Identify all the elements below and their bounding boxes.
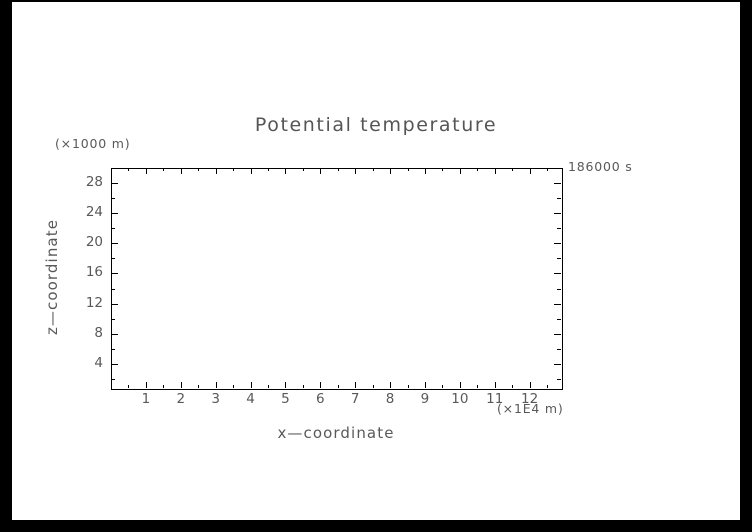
- y-tick-label: 16: [69, 264, 103, 280]
- tick-mark: [111, 273, 118, 274]
- tick-mark: [408, 385, 409, 388]
- tick-mark: [477, 385, 478, 388]
- tick-mark: [146, 382, 147, 388]
- tick-mark: [111, 168, 115, 169]
- x-tick-label: 6: [305, 391, 335, 407]
- tick-mark: [557, 319, 561, 320]
- y-tick-label: 12: [69, 295, 103, 311]
- figure-root: Potential temperature (×1000 m) 186000 s…: [0, 0, 752, 532]
- tick-mark: [554, 273, 561, 274]
- tick-mark: [530, 168, 531, 174]
- tick-mark: [111, 349, 115, 350]
- tick-mark: [355, 168, 356, 174]
- tick-mark: [557, 379, 561, 380]
- tick-mark: [285, 168, 286, 174]
- tick-mark: [111, 258, 115, 259]
- tick-mark: [146, 168, 147, 174]
- temperature-field: [111, 168, 561, 388]
- y-tick-label: 4: [69, 355, 103, 371]
- tick-mark: [111, 243, 118, 244]
- tick-mark: [554, 304, 561, 305]
- tick-mark: [373, 385, 374, 388]
- y-axis-title: z—coordinate: [43, 197, 61, 357]
- tick-mark: [198, 168, 199, 171]
- tick-mark: [425, 168, 426, 174]
- x-axis-unit-label: (×1E4 m): [497, 401, 564, 416]
- tick-mark: [530, 382, 531, 388]
- tick-mark: [512, 168, 513, 171]
- x-tick-label: 5: [270, 391, 300, 407]
- x-axis-title: x—coordinate: [0, 424, 672, 442]
- page-title: Potential temperature: [0, 114, 752, 136]
- tick-mark: [128, 385, 129, 388]
- tick-mark: [128, 168, 129, 171]
- tick-mark: [111, 183, 118, 184]
- x-tick-label: 4: [236, 391, 266, 407]
- tick-mark: [338, 385, 339, 388]
- tick-mark: [320, 382, 321, 388]
- tick-mark: [303, 168, 304, 171]
- tick-mark: [111, 213, 118, 214]
- x-tick-label: 9: [410, 391, 440, 407]
- tick-mark: [233, 168, 234, 171]
- tick-mark: [268, 168, 269, 171]
- tick-mark: [163, 168, 164, 171]
- colorbar-gradient: [578, 196, 600, 388]
- tick-mark: [557, 198, 561, 199]
- timestamp-label: 186000 s: [568, 159, 633, 174]
- tick-mark: [181, 168, 182, 174]
- tick-mark: [216, 382, 217, 388]
- tick-mark: [181, 382, 182, 388]
- tick-mark: [111, 289, 115, 290]
- y-tick-label: 24: [69, 204, 103, 220]
- tick-mark: [557, 349, 561, 350]
- tick-mark: [390, 382, 391, 388]
- tick-mark: [495, 382, 496, 388]
- tick-mark: [557, 228, 561, 229]
- tick-mark: [547, 168, 548, 171]
- tick-mark: [198, 385, 199, 388]
- tick-mark: [554, 213, 561, 214]
- tick-mark: [557, 258, 561, 259]
- x-tick-label: 1: [131, 391, 161, 407]
- tick-mark: [111, 379, 115, 380]
- tick-mark: [355, 382, 356, 388]
- tick-mark: [557, 289, 561, 290]
- tick-mark: [554, 243, 561, 244]
- x-tick-label: 2: [166, 391, 196, 407]
- tick-mark: [111, 364, 118, 365]
- tick-mark: [460, 168, 461, 174]
- tick-mark: [338, 168, 339, 171]
- y-tick-label: 28: [69, 174, 103, 190]
- tick-mark: [111, 334, 118, 335]
- tick-mark: [557, 168, 561, 169]
- tick-mark: [251, 168, 252, 174]
- tick-mark: [442, 168, 443, 171]
- tick-mark: [460, 382, 461, 388]
- tick-mark: [163, 385, 164, 388]
- x-tick-label: 3: [201, 391, 231, 407]
- tick-mark: [111, 304, 118, 305]
- tick-mark: [233, 385, 234, 388]
- contour-plot: [111, 168, 561, 388]
- tick-mark: [251, 382, 252, 388]
- x-tick-label: 8: [375, 391, 405, 407]
- tick-mark: [477, 168, 478, 171]
- y-axis-unit-label: (×1000 m): [55, 136, 130, 151]
- y-tick-label: 20: [69, 234, 103, 250]
- tick-mark: [111, 319, 115, 320]
- tick-mark: [373, 168, 374, 171]
- tick-mark: [268, 385, 269, 388]
- tick-mark: [554, 364, 561, 365]
- tick-mark: [442, 385, 443, 388]
- tick-mark: [408, 168, 409, 171]
- tick-mark: [547, 385, 548, 388]
- tick-mark: [554, 183, 561, 184]
- tick-mark: [390, 168, 391, 174]
- x-tick-label: 10: [445, 391, 475, 407]
- tick-mark: [216, 168, 217, 174]
- tick-mark: [554, 334, 561, 335]
- tick-mark: [303, 385, 304, 388]
- tick-mark: [320, 168, 321, 174]
- tick-mark: [111, 228, 115, 229]
- tick-mark: [495, 168, 496, 174]
- tick-mark: [285, 382, 286, 388]
- colorbar: [578, 196, 600, 388]
- tick-mark: [111, 198, 115, 199]
- tick-mark: [512, 385, 513, 388]
- y-tick-label: 8: [69, 325, 103, 341]
- tick-mark: [425, 382, 426, 388]
- x-tick-label: 7: [340, 391, 370, 407]
